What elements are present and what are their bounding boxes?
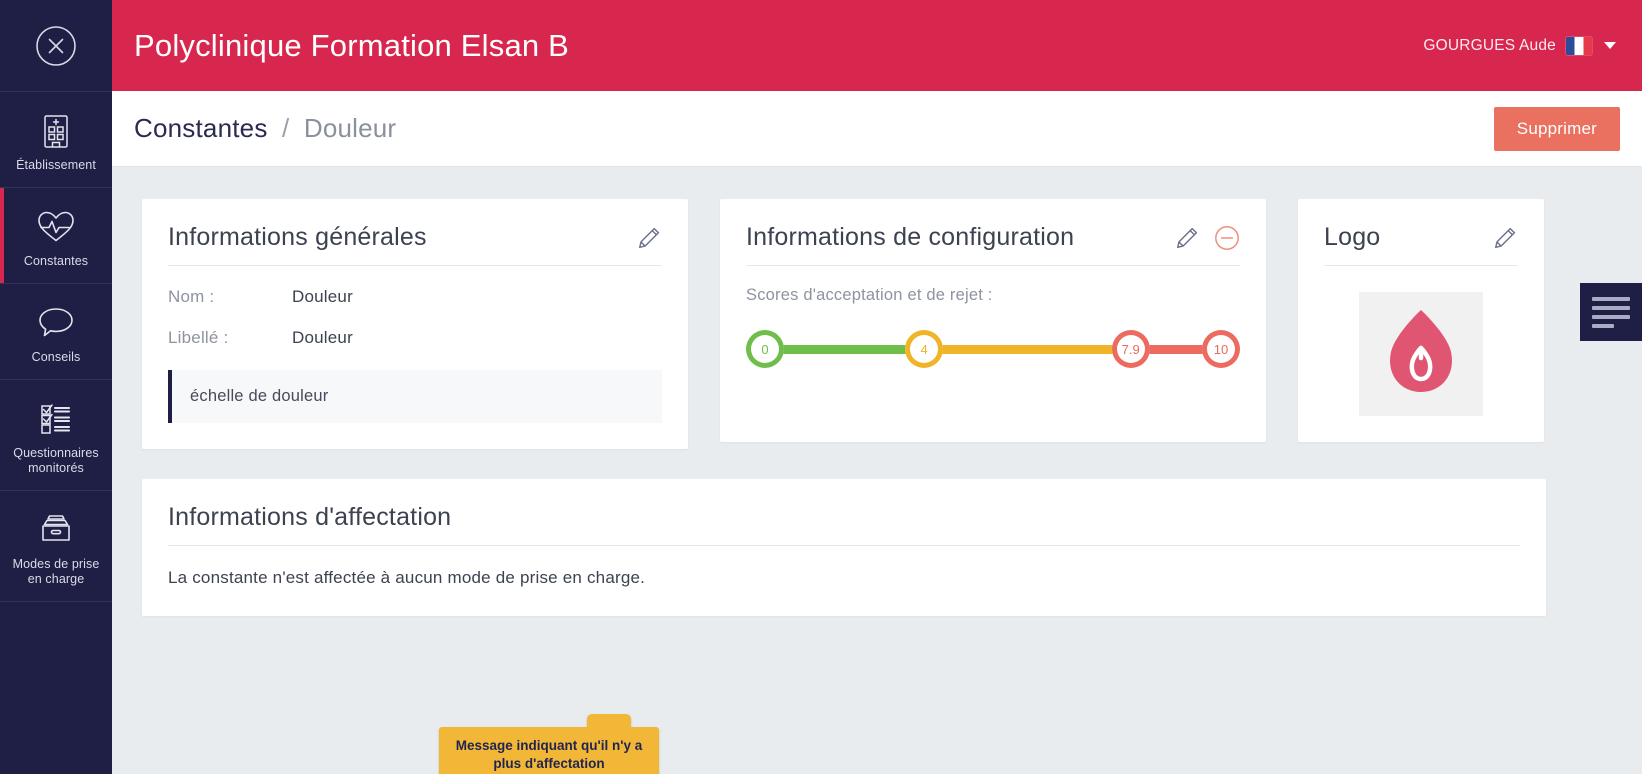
- affectation-message: La constante n'est affectée à aucun mode…: [168, 568, 1520, 588]
- scores-label: Scores d'acceptation et de rejet :: [746, 286, 1240, 305]
- user-menu[interactable]: GOURGUES Aude: [1423, 37, 1620, 55]
- card-header: Informations générales: [168, 223, 662, 266]
- field-label: Nom :: [168, 287, 292, 307]
- scale-node-value: 7.9: [1122, 343, 1140, 356]
- checklist-icon: [36, 396, 76, 440]
- sidebar-close-button[interactable]: [0, 0, 112, 91]
- menu-lines-icon: [1592, 297, 1630, 328]
- scale-node-2[interactable]: 7.9: [1112, 330, 1150, 368]
- field-value: Douleur: [292, 287, 353, 307]
- card-informations-configuration: Informations de configuration: [720, 199, 1266, 442]
- sidebar-item-modes-de-prise-en-charge[interactable]: Modes de prise en charge: [0, 490, 112, 601]
- scale-node-0[interactable]: 0: [746, 330, 784, 368]
- sidebar-item-label: Questionnaires monitorés: [4, 446, 108, 476]
- breadcrumb: Constantes / Douleur: [134, 113, 396, 144]
- top-header-bar: Polyclinique Formation Elsan B GOURGUES …: [112, 0, 1642, 91]
- app-root: Établissement Constantes Conseils: [0, 0, 1642, 774]
- acceptance-rejection-scale: 0 4 7.9 10: [746, 327, 1240, 371]
- annotation-callout: Message indiquant qu'il n'y a plus d'aff…: [439, 727, 659, 774]
- scale-node-3[interactable]: 10: [1202, 330, 1240, 368]
- file-drawer-icon: [36, 507, 76, 551]
- card-title: Informations générales: [168, 223, 427, 252]
- cards-row: Informations générales Nom : Doul: [142, 199, 1618, 449]
- card-header: Informations d'affectation: [168, 503, 1520, 546]
- callout-tab: [587, 714, 631, 729]
- scale-segment-red: [1148, 345, 1204, 354]
- breadcrumb-leaf: Douleur: [304, 113, 396, 143]
- field-value: Douleur: [292, 328, 353, 348]
- sidebar-item-label: Conseils: [30, 350, 83, 365]
- card-informations-generales: Informations générales Nom : Doul: [142, 199, 688, 449]
- scale-node-value: 10: [1214, 343, 1228, 356]
- pencil-icon[interactable]: [1174, 225, 1200, 251]
- card-header: Informations de configuration: [746, 223, 1240, 266]
- scale-node-1[interactable]: 4: [905, 330, 943, 368]
- scale-node-value: 0: [761, 343, 768, 356]
- sidebar-item-conseils[interactable]: Conseils: [0, 283, 112, 379]
- sidebar-item-constantes[interactable]: Constantes: [0, 187, 112, 283]
- pencil-icon[interactable]: [636, 225, 662, 251]
- speech-bubble-icon: [36, 300, 76, 344]
- french-flag-icon[interactable]: [1566, 37, 1592, 55]
- callout-text: Message indiquant qu'il n'y a plus d'aff…: [456, 738, 642, 771]
- breadcrumb-root[interactable]: Constantes: [134, 113, 268, 143]
- sidebar: Établissement Constantes Conseils: [0, 0, 112, 774]
- scale-segment-green: [782, 345, 907, 354]
- card-title: Logo: [1324, 223, 1380, 252]
- card-informations-affectation: Informations d'affectation La constante …: [142, 479, 1546, 616]
- field-nom: Nom : Douleur: [168, 287, 662, 307]
- card-title: Informations de configuration: [746, 223, 1074, 252]
- minus-circle-icon[interactable]: [1214, 225, 1240, 251]
- heart-pulse-icon: [35, 204, 77, 248]
- sidebar-item-label: Établissement: [14, 158, 98, 173]
- sidebar-item-etablissement[interactable]: Établissement: [0, 91, 112, 187]
- field-libelle: Libellé : Douleur: [168, 328, 662, 348]
- chevron-down-icon[interactable]: [1604, 42, 1616, 49]
- delete-button[interactable]: Supprimer: [1494, 107, 1620, 151]
- description-note: échelle de douleur: [168, 370, 662, 423]
- close-circle-icon: [35, 25, 77, 67]
- sidebar-item-label: Modes de prise en charge: [4, 557, 108, 587]
- breadcrumb-separator: /: [282, 113, 289, 143]
- sidebar-item-label: Constantes: [22, 254, 90, 269]
- user-name: GOURGUES Aude: [1423, 37, 1556, 55]
- flame-drop-logo: [1379, 306, 1463, 403]
- breadcrumb-bar: Constantes / Douleur Supprimer: [112, 91, 1642, 167]
- card-logo: Logo: [1298, 199, 1544, 442]
- field-label: Libellé :: [168, 328, 292, 348]
- hospital-building-icon: [39, 108, 73, 152]
- main-column: Polyclinique Formation Elsan B GOURGUES …: [112, 0, 1642, 774]
- sidebar-item-questionnaires-monitores[interactable]: Questionnaires monitorés: [0, 379, 112, 490]
- scale-segment-amber: [941, 345, 1114, 354]
- logo-preview: [1359, 292, 1483, 416]
- scale-node-value: 4: [920, 343, 927, 356]
- drawer-toggle-button[interactable]: [1580, 283, 1642, 341]
- card-header: Logo: [1324, 223, 1518, 266]
- content-area: Informations générales Nom : Doul: [112, 167, 1642, 774]
- pencil-icon[interactable]: [1492, 225, 1518, 251]
- app-title: Polyclinique Formation Elsan B: [134, 28, 569, 64]
- card-title: Informations d'affectation: [168, 503, 451, 532]
- sidebar-filler: [0, 601, 112, 774]
